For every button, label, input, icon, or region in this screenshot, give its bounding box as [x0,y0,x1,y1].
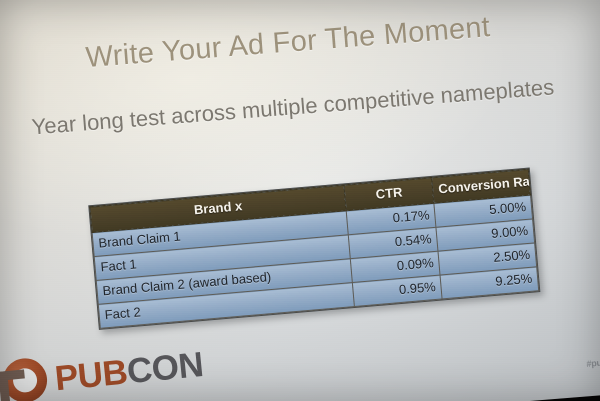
results-table-container: Brand x CTR Conversion Rate Brand Claim … [88,168,540,330]
pubcon-p-circle-logo-icon [0,355,51,401]
logo-wordmark-pub: PUB [53,352,129,398]
logo-wordmark: PUBCON [53,347,204,396]
slide-content: Write Your Ad For The Moment Year long t… [0,0,600,401]
pubcon-logo: PUBCON [0,339,205,401]
slide-subtitle: Year long test across multiple competiti… [0,71,593,143]
page-title: Write Your Ad For The Moment [0,4,588,83]
photo-of-presentation-slide: Write Your Ad For The Moment Year long t… [0,0,600,401]
hashtag-watermark: #pubcon [586,356,600,369]
logo-wordmark-con: CON [125,345,205,391]
results-table: Brand x CTR Conversion Rate Brand Claim … [89,169,539,329]
